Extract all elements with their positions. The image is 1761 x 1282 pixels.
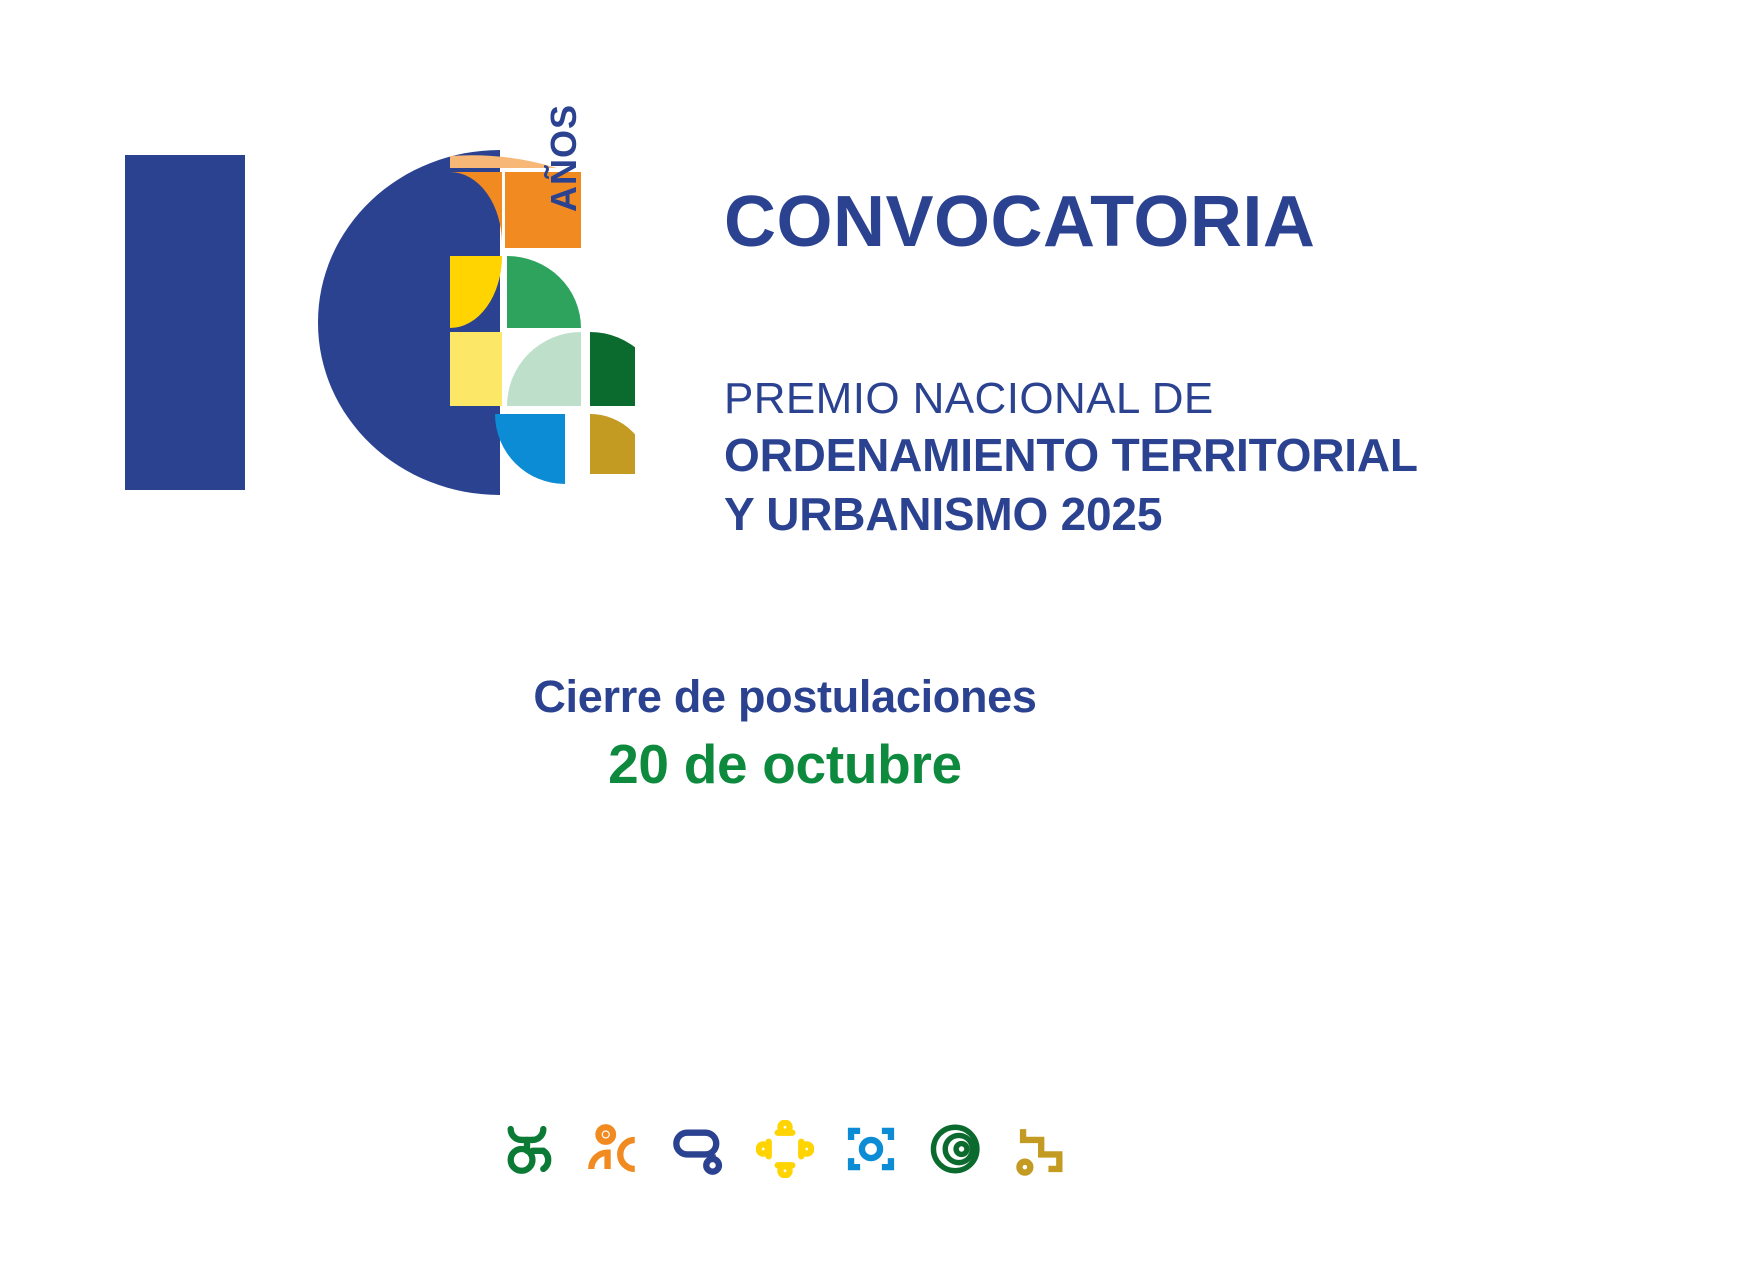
headline-block: CONVOCATORIA PREMIO NACIONAL DE ORDENAMI… <box>724 186 1624 543</box>
page-title: CONVOCATORIA <box>724 186 1624 258</box>
target-focus-icon <box>842 1120 900 1178</box>
deadline-block: Cierre de postulaciones 20 de octubre <box>0 672 1570 794</box>
person-arc-icon <box>584 1120 642 1178</box>
logo-anos-label: AÑOS <box>543 104 585 212</box>
network-nodes-icon <box>498 1120 556 1178</box>
deadline-label: Cierre de postulaciones <box>0 672 1570 722</box>
stair-steps-icon <box>1014 1120 1072 1178</box>
rounded-node-link-icon <box>670 1120 728 1178</box>
logo-mosaic <box>445 150 635 495</box>
concentric-circles-icon <box>928 1120 986 1178</box>
subtitle-light: PREMIO NACIONAL DE <box>724 372 1624 426</box>
four-node-diamond-icon <box>756 1120 814 1178</box>
subtitle-bold-line-1: ORDENAMIENTO TERRITORIAL <box>724 426 1624 485</box>
anniversary-logo: AÑOS <box>125 150 635 495</box>
logo-digit-one <box>125 155 245 490</box>
subtitle-bold-line-2: Y URBANISMO 2025 <box>724 485 1624 544</box>
logo-mosaic-svg <box>445 150 635 495</box>
deadline-date: 20 de octubre <box>0 734 1570 795</box>
pictogram-row <box>0 1120 1570 1178</box>
